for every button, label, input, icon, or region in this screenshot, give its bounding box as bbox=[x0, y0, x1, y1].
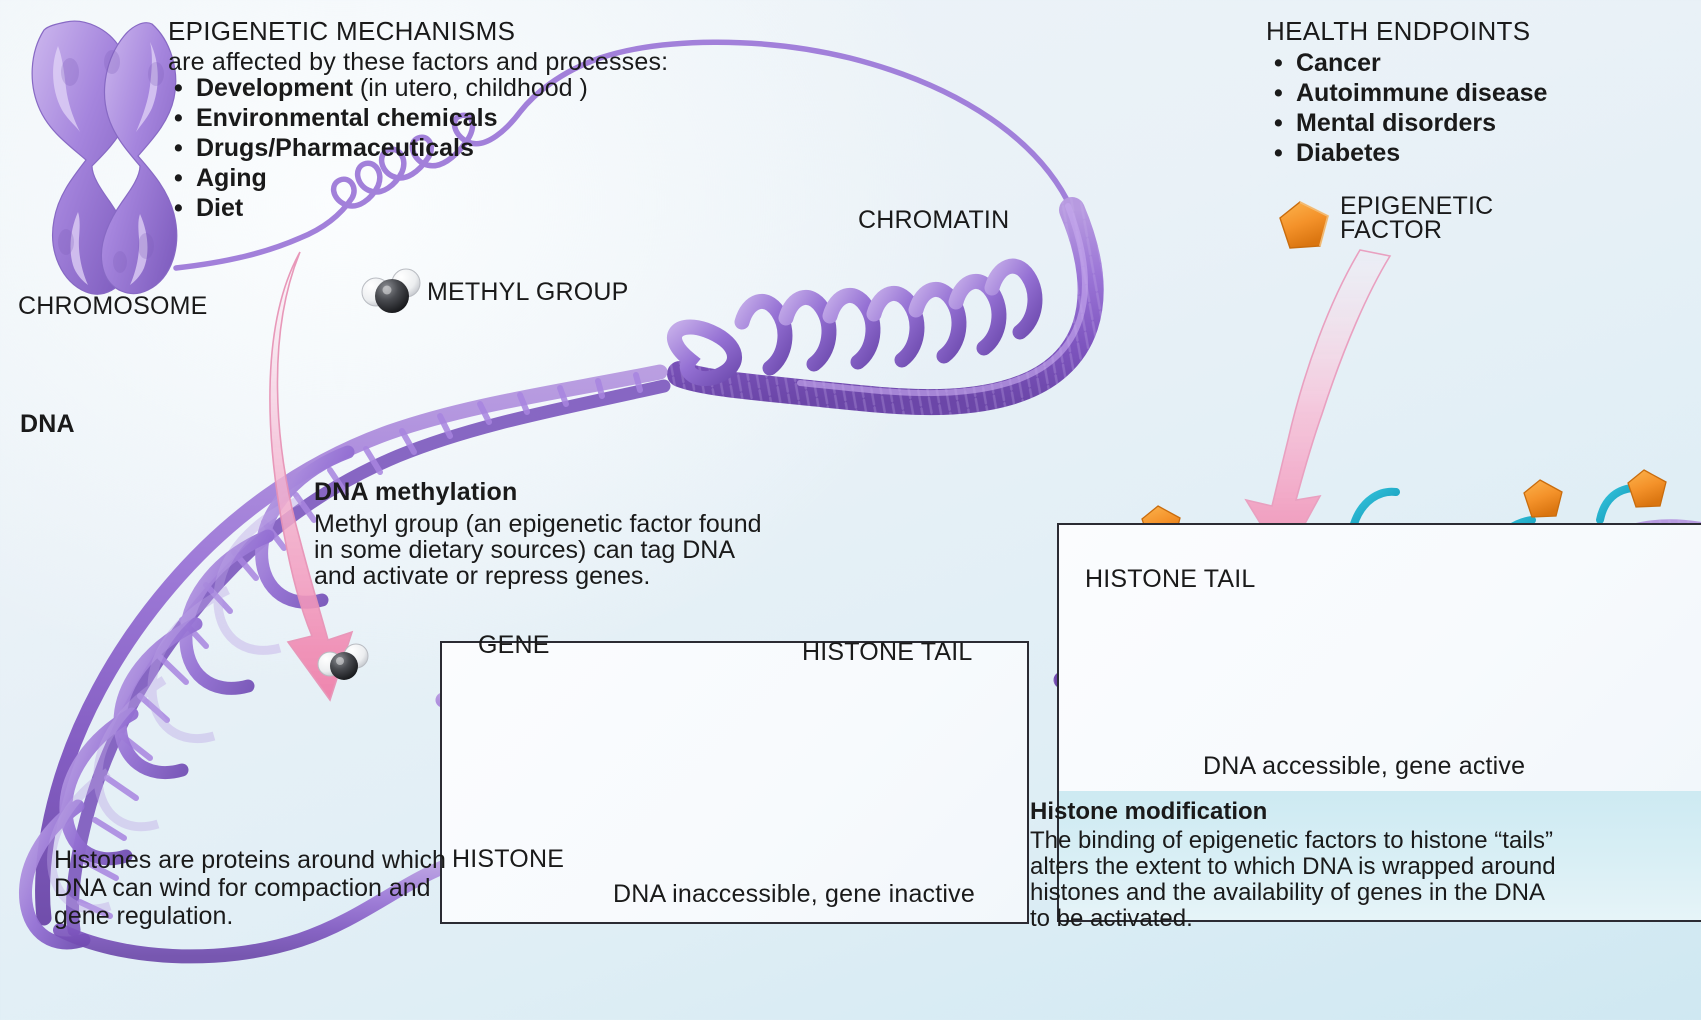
endpoint-item-autoimmune-disease: Autoimmune disease bbox=[1268, 78, 1547, 108]
factor-pentagon-4 bbox=[1628, 470, 1666, 507]
inactive-caption: DNA inaccessible, gene inactive bbox=[613, 880, 975, 909]
chromosome-graphic bbox=[32, 21, 177, 294]
factor-item-drugs-pharmaceuticals: Drugs/Pharmaceuticals bbox=[168, 133, 588, 163]
epigenetic-factor-icon bbox=[1280, 202, 1328, 248]
methylation-note-title: DNA methylation bbox=[314, 478, 517, 507]
histone-label: HISTONE bbox=[452, 845, 564, 874]
right-header-title: HEALTH ENDPOINTS bbox=[1266, 16, 1530, 47]
histone-note-line1: Histones are proteins around which bbox=[54, 845, 446, 876]
factor-item-environmental-chemicals: Environmental chemicals bbox=[168, 103, 588, 133]
histone-modification-title: Histone modification bbox=[1030, 798, 1267, 826]
endpoint-item-mental-disorders: Mental disorders bbox=[1268, 108, 1547, 138]
histone-note-line3: gene regulation. bbox=[54, 901, 233, 932]
health-endpoints-list: Cancer Autoimmune disease Mental disorde… bbox=[1268, 48, 1547, 168]
dna-label: DNA bbox=[20, 410, 75, 439]
factor-item-development: Development (in utero, childhood ) bbox=[168, 73, 588, 103]
chromatin-coil bbox=[674, 266, 1034, 379]
factor-item-diet: Diet bbox=[168, 193, 588, 223]
gene-label: GENE bbox=[478, 631, 550, 660]
methyl-group-icon-top bbox=[362, 269, 420, 313]
methyl-group-label: METHYL GROUP bbox=[427, 278, 629, 307]
chromosome-label: CHROMOSOME bbox=[18, 292, 208, 321]
chromatin-label: CHROMATIN bbox=[858, 206, 1009, 235]
epigenetic-factors-list: Development (in utero, childhood ) Envir… bbox=[168, 73, 588, 223]
histone-modification-line4: to be activated. bbox=[1030, 904, 1193, 934]
left-header-title: EPIGENETIC MECHANISMS bbox=[168, 16, 515, 47]
methylation-note-line3: and activate or repress genes. bbox=[314, 561, 650, 592]
factor-pentagon-2 bbox=[1524, 480, 1562, 517]
histone-note-line2: DNA can wind for compaction and bbox=[54, 873, 431, 904]
active-caption: DNA accessible, gene active bbox=[1203, 752, 1525, 781]
epigenetic-factor-label-line2: FACTOR bbox=[1340, 216, 1442, 245]
epigenetic-factor-arrow bbox=[1246, 250, 1390, 562]
factor-item-aging: Aging bbox=[168, 163, 588, 193]
active-histone-tail-label: HISTONE TAIL bbox=[1085, 565, 1256, 594]
endpoint-item-cancer: Cancer bbox=[1268, 48, 1547, 78]
endpoint-item-diabetes: Diabetes bbox=[1268, 138, 1547, 168]
inactive-histone-tail-label: HISTONE TAIL bbox=[802, 638, 973, 667]
